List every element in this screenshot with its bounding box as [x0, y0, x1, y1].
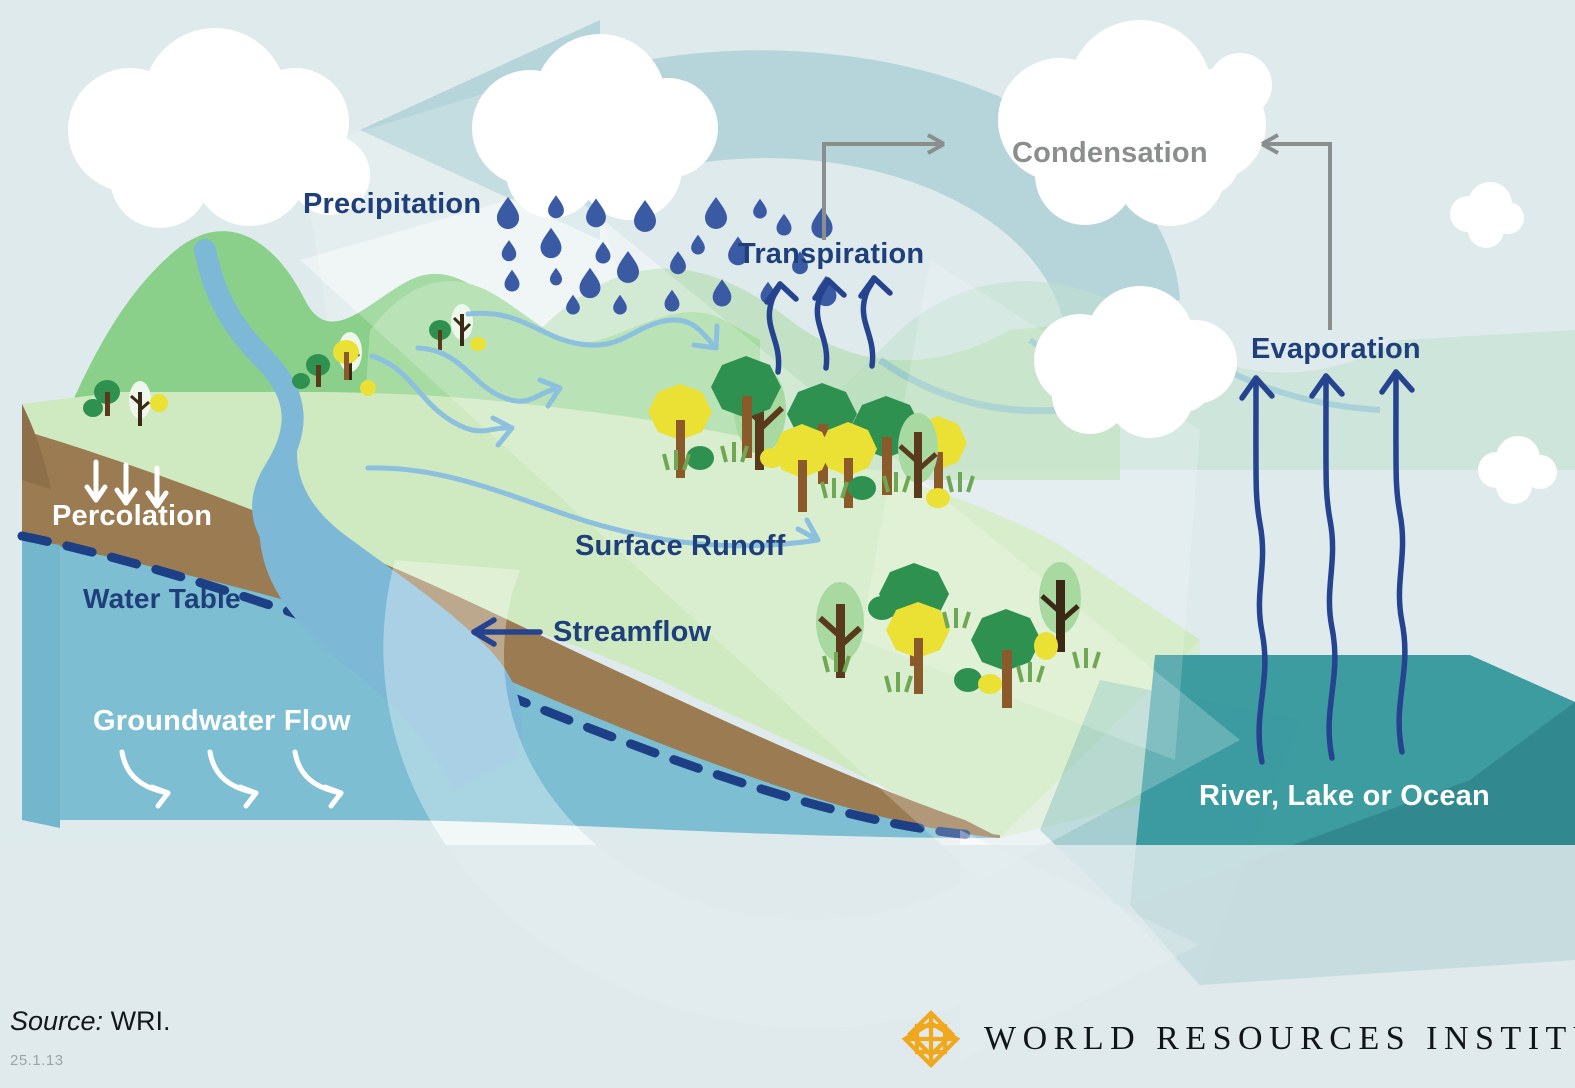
water-cycle-diagram: Precipitation Transpiration Condensation…	[0, 0, 1575, 1088]
label-precipitation: Precipitation	[303, 188, 481, 221]
source-line: Source: WRI.	[10, 1006, 171, 1037]
label-percolation: Percolation	[52, 500, 212, 533]
flow-indicators	[0, 0, 1575, 1088]
label-transpiration: Transpiration	[738, 238, 924, 271]
transpiration-condensation-connector	[824, 135, 944, 240]
source-name: WRI.	[111, 1006, 171, 1036]
label-surface-runoff: Surface Runoff	[575, 530, 786, 563]
doc-number: 25.1.13	[10, 1052, 64, 1069]
source-prefix: Source:	[10, 1006, 103, 1036]
wri-wordmark: WORLD RESOURCES INSTITUTE	[984, 1020, 1575, 1058]
groundwater-flow-arrows	[122, 752, 341, 806]
label-water-table: Water Table	[83, 583, 241, 615]
evaporation-condensation-connector	[1262, 135, 1330, 330]
label-condensation: Condensation	[1012, 137, 1208, 170]
wri-logo: WORLD RESOURCES INSTITUTE	[900, 1008, 1575, 1070]
label-groundwater-flow: Groundwater Flow	[93, 705, 351, 738]
streamflow-arrow	[474, 620, 540, 644]
wri-knot-icon	[900, 1008, 962, 1070]
label-evaporation: Evaporation	[1251, 333, 1421, 366]
surface-runoff-arrows	[368, 313, 818, 546]
evaporation-arrows	[1242, 372, 1412, 762]
label-river-lake-ocean: River, Lake or Ocean	[1199, 780, 1490, 813]
label-streamflow: Streamflow	[553, 616, 711, 649]
